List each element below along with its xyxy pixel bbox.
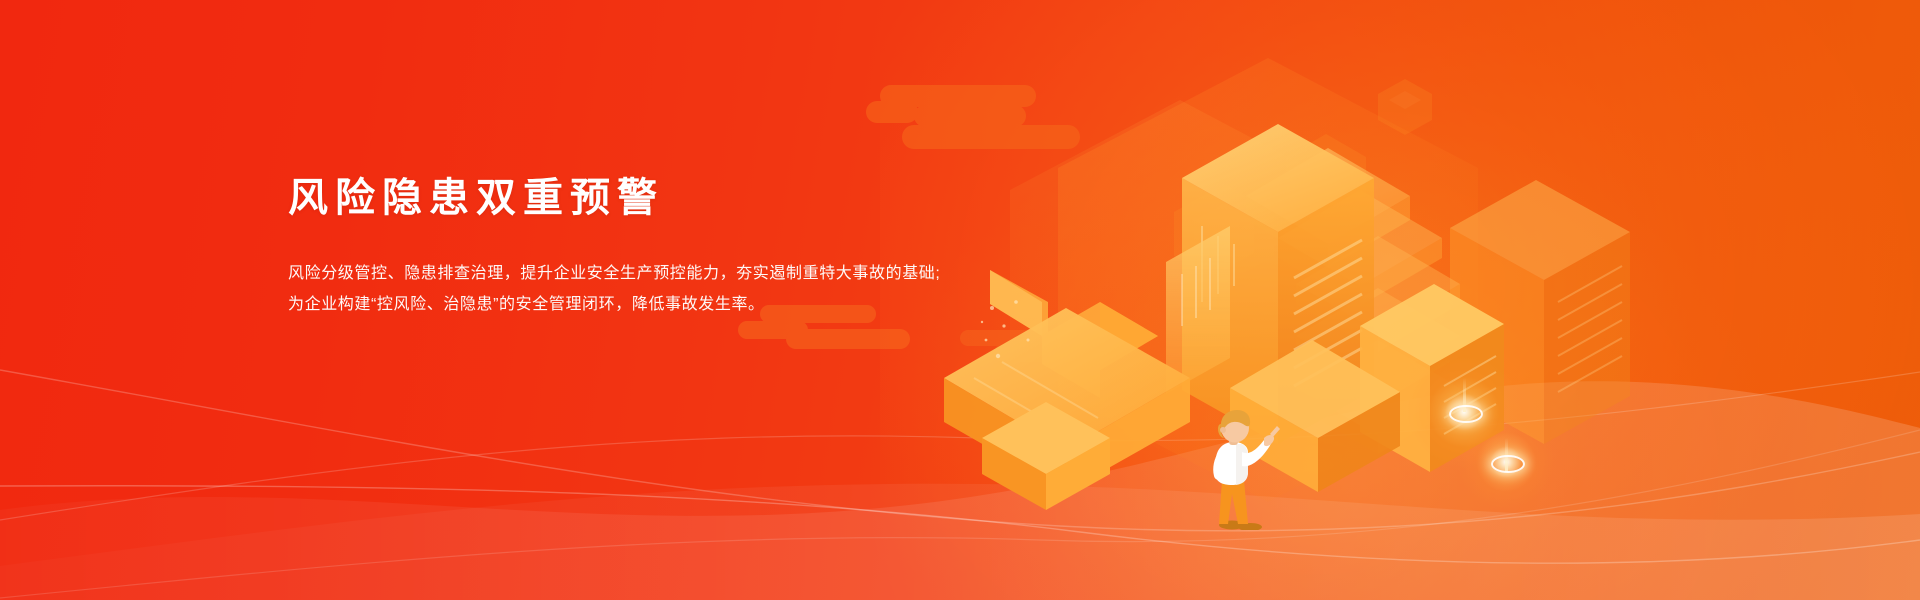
subtitle-line-2: 为企业构建“控风险、治隐患”的安全管理闭环，降低事故发生率。 [288,289,1048,320]
promo-banner: 风险隐患双重预警 风险分级管控、隐患排查治理，提升企业安全生产预控能力，夯实遏制… [0,0,1920,600]
subtitle-line-1: 风险分级管控、隐患排查治理，提升企业安全生产预控能力，夯实遏制重特大事故的基础; [288,258,1048,289]
page-title: 风险隐患双重预警 [288,178,1048,218]
banner-copy: 风险隐患双重预警 风险分级管控、隐患排查治理，提升企业安全生产预控能力，夯实遏制… [288,178,1048,320]
person-pointing-illustration [1198,408,1308,530]
banner-subtitle: 风险分级管控、隐患排查治理，提升企业安全生产预控能力，夯实遏制重特大事故的基础;… [288,258,1048,320]
